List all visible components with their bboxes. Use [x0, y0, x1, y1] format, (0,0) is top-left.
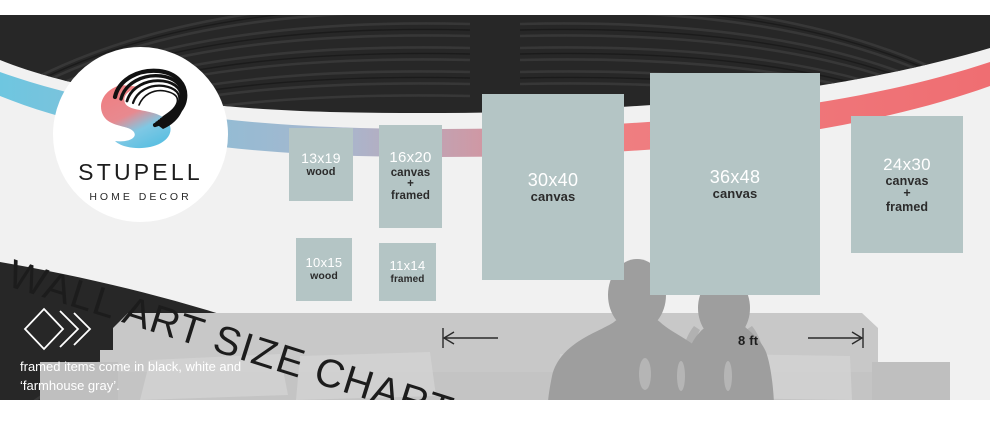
frame-24x30: 24x30canvas+framed — [851, 116, 963, 253]
frame-10x15: 10x15wood — [296, 238, 352, 301]
brand-logo-badge: STUPELL HOME DECOR — [53, 47, 228, 222]
stupell-swoosh-logo-icon — [85, 63, 197, 155]
frame-11x14-size-label: 11x14 — [390, 259, 426, 274]
frame-16x20-type2-label: framed — [391, 190, 430, 203]
dimension-line — [430, 325, 880, 355]
frame-11x14-type-label: framed — [391, 274, 425, 285]
measurement-label: 8 ft — [738, 333, 758, 348]
double-diamond-icon — [22, 306, 94, 352]
brand-tagline: HOME DECOR — [89, 191, 191, 203]
frame-30x40-type-label: canvas — [531, 190, 576, 205]
frame-36x48-type-label: canvas — [713, 187, 758, 202]
frame-30x40-size-label: 30x40 — [528, 170, 579, 190]
note-text: framed items come in black, white and ‘f… — [20, 358, 280, 396]
top-white-margin — [0, 0, 990, 15]
frame-30x40: 30x40canvas — [482, 94, 624, 280]
frame-13x19: 13x19wood — [289, 128, 353, 201]
frame-16x20-size-label: 16x20 — [389, 150, 431, 167]
frame-24x30-type2-label: framed — [886, 200, 928, 214]
wall-art-size-chart-poster: 13x19wood16x20canvas+framed10x15wood11x1… — [0, 0, 990, 422]
frame-36x48-size-label: 36x48 — [710, 167, 761, 187]
frame-36x48: 36x48canvas — [650, 73, 820, 295]
frame-13x19-type-label: wood — [306, 166, 335, 178]
frame-13x19-size-label: 13x19 — [301, 151, 341, 167]
bottom-white-margin — [0, 400, 990, 422]
frame-10x15-size-label: 10x15 — [306, 256, 343, 271]
frame-11x14: 11x14framed — [379, 243, 436, 301]
brand-name: STUPELL — [78, 159, 203, 186]
frame-24x30-size-label: 24x30 — [883, 155, 931, 174]
frame-10x15-type-label: wood — [310, 271, 338, 283]
frame-16x20-plus: + — [407, 179, 414, 190]
frame-24x30-plus: + — [903, 188, 910, 200]
frame-16x20: 16x20canvas+framed — [379, 125, 442, 228]
